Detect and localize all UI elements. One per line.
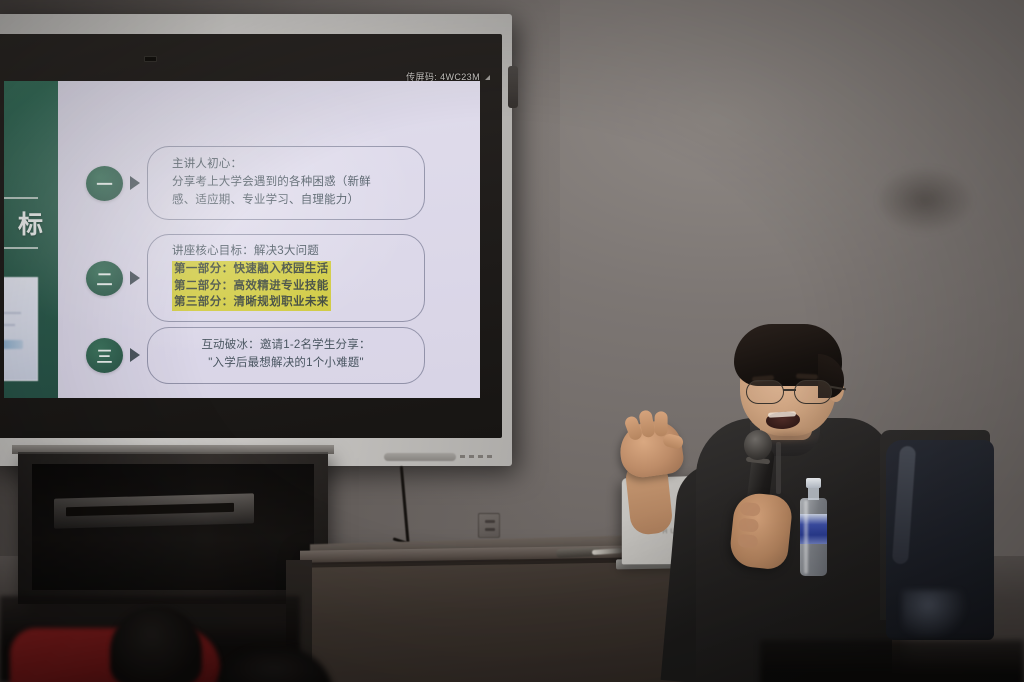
bullet-3-line-1: 互动破冰：邀请1-2名学生分享： (164, 337, 408, 355)
presentation-slide[interactable]: 标 一 主讲人初心： 分享考上大学会遇到 (4, 81, 480, 398)
bottle-highlight (804, 500, 808, 574)
speaker-shirt-placket (776, 442, 781, 494)
cabinet-shadow (18, 452, 328, 604)
sidebar-rule-top (4, 197, 38, 199)
bullet-3-line-2: "入学后最想解决的1个小难题" (164, 355, 408, 373)
foreground-right-shadow (760, 640, 1024, 682)
slide-bullet-1: 一 主讲人初心： 分享考上大学会遇到的各种困惑（新鲜 感、适应期、专业学习、自理… (86, 146, 425, 220)
bullet-2-highlight-3: 第三部分：清晰规划职业未来 (172, 294, 408, 311)
bottle-neck (808, 486, 819, 500)
bullet-card-2: 讲座核心目标：解决3大问题 第一部分：快速融入校园生活 第二部分：高效精进专业技… (147, 234, 425, 322)
av-equipment-cabinet (18, 452, 328, 604)
lecture-hall-photo: 传屏码: 4WC23M 标 一 (0, 0, 1024, 682)
bullet-1-line-1: 主讲人初心： (172, 156, 408, 174)
slide-sidebar: 标 (4, 81, 58, 398)
bullet-badge-3: 三 (86, 338, 123, 373)
speaker-mic-hand (728, 491, 793, 571)
eyeglass-lens-left (746, 380, 784, 404)
interactive-smart-display[interactable]: 传屏码: 4WC23M 标 一 (0, 14, 512, 466)
finger (655, 411, 668, 436)
bullet-1-line-2: 分享考上大学会遇到的各种困惑（新鲜 (172, 174, 408, 192)
finger (740, 502, 761, 517)
slide-bullet-2: 二 讲座核心目标：解决3大问题 第一部分：快速融入校园生活 第二部分：高效精进专… (86, 234, 425, 322)
bullet-arrow-icon (130, 176, 140, 190)
bullet-2-highlight-1: 第一部分：快速融入校园生活 (172, 261, 408, 278)
bullet-2-highlight-2: 第二部分：高效精进专业技能 (172, 278, 408, 295)
slide-bullet-3: 三 互动破冰：邀请1-2名学生分享： "入学后最想解决的1个小难题" (86, 327, 425, 384)
speaker-gesturing-hand (617, 418, 686, 480)
speaker-person (600, 318, 920, 682)
backpack-highlight (902, 590, 968, 640)
water-bottle[interactable] (800, 478, 827, 576)
display-side-button[interactable] (508, 66, 518, 108)
bottle-cap (806, 478, 821, 488)
sidebar-photo-mark (4, 340, 23, 349)
bullet-card-3: 互动破冰：邀请1-2名学生分享： "入学后最想解决的1个小难题" (147, 327, 425, 384)
cast-corner-icon (485, 75, 490, 80)
wall-smudge (880, 170, 970, 230)
bullet-badge-2: 二 (86, 261, 123, 296)
slide-bullet-list: 一 主讲人初心： 分享考上大学会遇到的各种困惑（新鲜 感、适应期、专业学习、自理… (58, 81, 480, 398)
sidebar-photo-line (4, 312, 21, 314)
camera-notch-icon (144, 56, 157, 62)
bullet-arrow-icon (130, 348, 140, 362)
display-bezel: 传屏码: 4WC23M 标 一 (0, 34, 502, 438)
eyeglasses-icon (742, 380, 842, 406)
bullet-badge-1: 一 (86, 166, 123, 201)
display-handle (384, 453, 456, 461)
sidebar-title: 标 (4, 205, 44, 241)
bullet-arrow-icon (130, 271, 140, 285)
display-ports (460, 455, 494, 458)
eyeglass-lens-right (794, 380, 832, 404)
eyeglass-bridge (783, 389, 796, 391)
speaker-eyebrow-right (796, 373, 818, 379)
sidebar-rule-bottom (4, 247, 38, 249)
sidebar-photo-line (4, 324, 15, 326)
bullet-card-1: 主讲人初心： 分享考上大学会遇到的各种困惑（新鲜 感、适应期、专业学习、自理能力… (147, 146, 425, 220)
finger (737, 534, 758, 549)
thumb (662, 433, 685, 450)
bullet-1-line-3: 感、适应期、专业学习、自理能力） (172, 192, 408, 210)
wall-power-outlet (478, 513, 500, 538)
sidebar-photo (4, 277, 38, 381)
finger (738, 518, 759, 533)
bullet-2-line-1: 讲座核心目标：解决3大问题 (172, 243, 408, 261)
